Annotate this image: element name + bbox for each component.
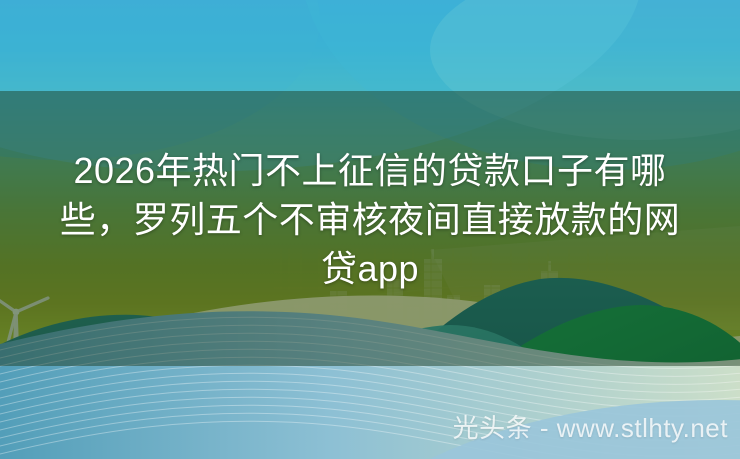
watermark-text: 光头条 - www.stlhty.net (0, 408, 740, 445)
promo-banner: 2026年热门不上征信的贷款口子有哪些，罗列五个不审核夜间直接放款的网贷app … (0, 0, 740, 459)
banner-headline: 2026年热门不上征信的贷款口子有哪些，罗列五个不审核夜间直接放款的网贷app (0, 146, 740, 293)
